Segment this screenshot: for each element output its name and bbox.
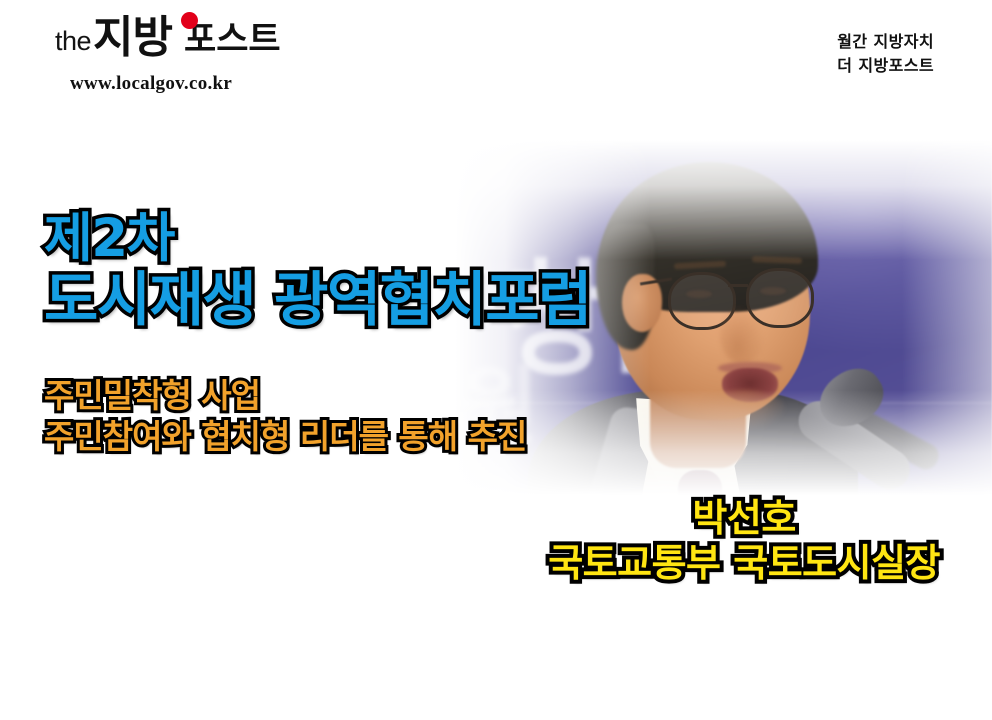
headline-block: 제2차 도시재생 광역협치포럼 xyxy=(44,212,591,330)
headline-line-1: 제2차 xyxy=(44,212,591,266)
speaker-photo: 창원 원 xyxy=(400,140,992,540)
poster-canvas: 창원 원 xyxy=(0,0,992,720)
speaker-name: 박선호 xyxy=(548,498,940,539)
subhead-line-1: 주민밀착형 사업 xyxy=(44,378,526,415)
logo-post-text: 포스트 xyxy=(184,23,281,60)
photo-fade-right xyxy=(902,140,992,540)
nose xyxy=(720,306,764,364)
site-logo[interactable]: the 지방 포스트 www.localgov.co.kr xyxy=(55,16,355,112)
speaker-credit-block: 박선호 국토교통부 국토도시실장 xyxy=(548,498,940,584)
masthead: 월간 지방자치 더 지방포스트 xyxy=(837,30,934,78)
subhead-line-2: 주민참여와 협치형 리더를 통해 추진 xyxy=(44,419,526,456)
logo-wordmark: the 지방 포스트 xyxy=(55,16,355,60)
logo-url-text[interactable]: www.localgov.co.kr xyxy=(70,73,355,95)
logo-brand-text: 지방 xyxy=(93,16,172,60)
logo-the-text: the xyxy=(55,28,91,60)
headline-line-2: 도시재생 광역협치포럼 xyxy=(44,270,591,330)
eyeglasses-bridge xyxy=(728,284,748,287)
red-dot-icon xyxy=(181,12,198,29)
speaker-title: 국토교통부 국토도시실장 xyxy=(548,543,940,584)
masthead-line-2: 더 지방포스트 xyxy=(837,54,934,78)
masthead-line-1: 월간 지방자치 xyxy=(837,30,934,54)
subhead-block: 주민밀착형 사업 주민참여와 협치형 리더를 통해 추진 xyxy=(44,378,526,456)
